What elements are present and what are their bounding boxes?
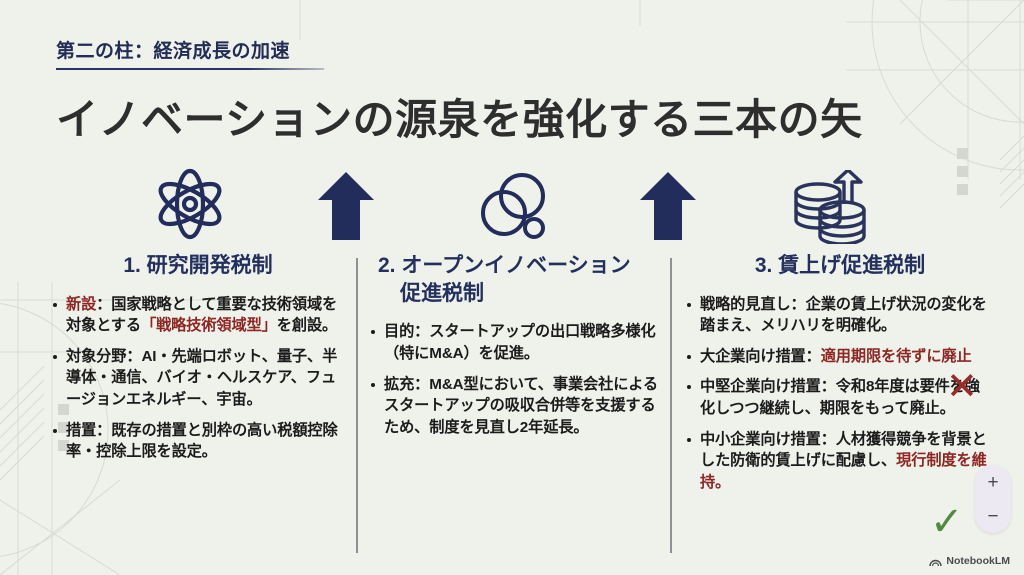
zoom-control[interactable]: + − <box>975 465 1011 533</box>
decorative-square <box>957 148 968 159</box>
zoom-in-button[interactable]: + <box>987 473 998 492</box>
column-2: 2. オープンイノベーション 促進税制 目的：スタートアップの出口戦略多様化（特… <box>370 252 658 447</box>
highlighted-text: 「戦略技術領域型」 <box>141 317 277 334</box>
body-text: 拡充：M&A型において、事業会社によるスタートアップの吸収合併等を支援するため、… <box>384 376 658 436</box>
list-item: 対象分野：AI・先端ロボット、量子、半導体・通信、バイオ・ヘルスケア、フュージョ… <box>52 346 344 411</box>
list-item: 拡充：M&A型において、事業会社によるスタートアップの吸収合併等を支援するため、… <box>370 374 658 439</box>
zoom-out-button[interactable]: − <box>987 507 998 526</box>
list-item: 新設：国家戦略として重要な技術領域を対象とする「戦略技術領域型」を創設。 <box>52 294 344 337</box>
column-1: 1. 研究開発税制 新設：国家戦略として重要な技術領域を対象とする「戦略技術領域… <box>52 252 344 472</box>
highlighted-text: 新設 <box>66 296 96 313</box>
list-item: 中小企業向け措置：人材獲得競争を背景とした防衛的賃上げに配慮し、現行制度を維持。 <box>686 429 994 494</box>
eyebrow-section: 第二の柱：経済成長の加速 <box>56 36 324 70</box>
bullet-rich-text: 新設：国家戦略として重要な技術領域を対象とする「戦略技術領域型」を創設。 <box>66 296 337 335</box>
check-mark-icon: ✓ <box>930 502 964 542</box>
notebooklm-watermark: NotebookLM <box>929 555 1010 567</box>
eyebrow-underline <box>56 68 324 70</box>
bullet-rich-text: 戦略的見直し：企業の賃上げ状況の変化を踏まえ、メリハリを明確化。 <box>700 296 987 335</box>
atom-icon <box>152 166 228 242</box>
slide-canvas: 第二の柱：経済成長の加速 イノベーションの源泉を強化する三本の矢 <box>0 0 1024 575</box>
body-text: 中堅企業向け措置：令和8年度は要件を強化しつつ継続し、期限をもって廃止。 <box>700 378 980 417</box>
column-1-bullets: 新設：国家戦略として重要な技術領域を対象とする「戦略技術領域型」を創設。 対象分… <box>52 294 344 463</box>
column-2-bullets: 目的：スタートアップの出口戦略多様化（特にM&A）を促進。 拡充：M&A型におい… <box>370 321 658 438</box>
bullet-rich-text: 措置：既存の措置と別枠の高い税額控除率・控除上限を設定。 <box>66 422 338 461</box>
body-text: 大企業向け措置： <box>700 348 821 365</box>
bullet-rich-text: 目的：スタートアップの出口戦略多様化（特にM&A）を促進。 <box>384 323 656 362</box>
bullet-rich-text: 中堅企業向け措置：令和8年度は要件を強化しつつ継続し、期限をもって廃止。 <box>700 378 980 417</box>
list-item: 措置：既存の措置と別枠の高い税額控除率・控除上限を設定。 <box>52 420 344 463</box>
bullet-rich-text: 拡充：M&A型において、事業会社によるスタートアップの吸収合併等を支援するため、… <box>384 376 658 436</box>
column-2-heading-line-2: 促進税制 <box>378 280 658 308</box>
overlapping-circles-icon <box>478 172 554 242</box>
icon-row <box>0 166 1024 246</box>
body-text: を創設。 <box>277 317 337 334</box>
bullet-rich-text: 対象分野：AI・先端ロボット、量子、半導体・通信、バイオ・ヘルスケア、フュージョ… <box>66 348 337 408</box>
list-item: 戦略的見直し：企業の賃上げ状況の変化を踏まえ、メリハリを明確化。 <box>686 294 994 337</box>
list-item: 大企業向け措置：適用期限を待ずに廃止 <box>686 346 994 368</box>
column-2-heading: 2. オープンイノベーション 促進税制 <box>370 252 658 307</box>
body-text: 戦略的見直し：企業の賃上げ状況の変化を踏まえ、メリハリを明確化。 <box>700 296 987 335</box>
column-1-heading: 1. 研究開発税制 <box>52 252 344 280</box>
body-text: 対象分野：AI・先端ロボット、量子、半導体・通信、バイオ・ヘルスケア、フュージョ… <box>66 348 337 408</box>
body-text: 目的：スタートアップの出口戦略多様化（特にM&A）を促進。 <box>384 323 656 362</box>
cross-mark-icon: ✕ <box>946 368 978 406</box>
bullet-rich-text: 中小企業向け措置：人材獲得競争を背景とした防衛的賃上げに配慮し、現行制度を維持。 <box>700 431 987 491</box>
columns-container: 1. 研究開発税制 新設：国家戦略として重要な技術領域を対象とする「戦略技術領域… <box>0 252 1024 562</box>
watermark-label: NotebookLM <box>946 555 1010 567</box>
list-item: 目的：スタートアップの出口戦略多様化（特にM&A）を促進。 <box>370 321 658 364</box>
highlighted-text: 適用期限を待ずに廃止 <box>821 348 972 365</box>
column-2-heading-line-1: 2. オープンイノベーション <box>378 254 631 277</box>
eyebrow-label: 第二の柱：経済成長の加速 <box>56 36 324 63</box>
arrow-up-icon-2 <box>638 170 698 242</box>
arrow-up-icon-1 <box>316 170 376 242</box>
bullet-rich-text: 大企業向け措置：適用期限を待ずに廃止 <box>700 348 972 365</box>
column-3-heading: 3. 賃上げ促進税制 <box>686 252 994 280</box>
body-text: 措置：既存の措置と別枠の高い税額控除率・控除上限を設定。 <box>66 422 338 461</box>
page-title: イノベーションの源泉を強化する三本の矢 <box>56 86 863 147</box>
coin-stack-growth-icon <box>790 170 874 244</box>
notebooklm-logo-icon <box>929 556 942 567</box>
